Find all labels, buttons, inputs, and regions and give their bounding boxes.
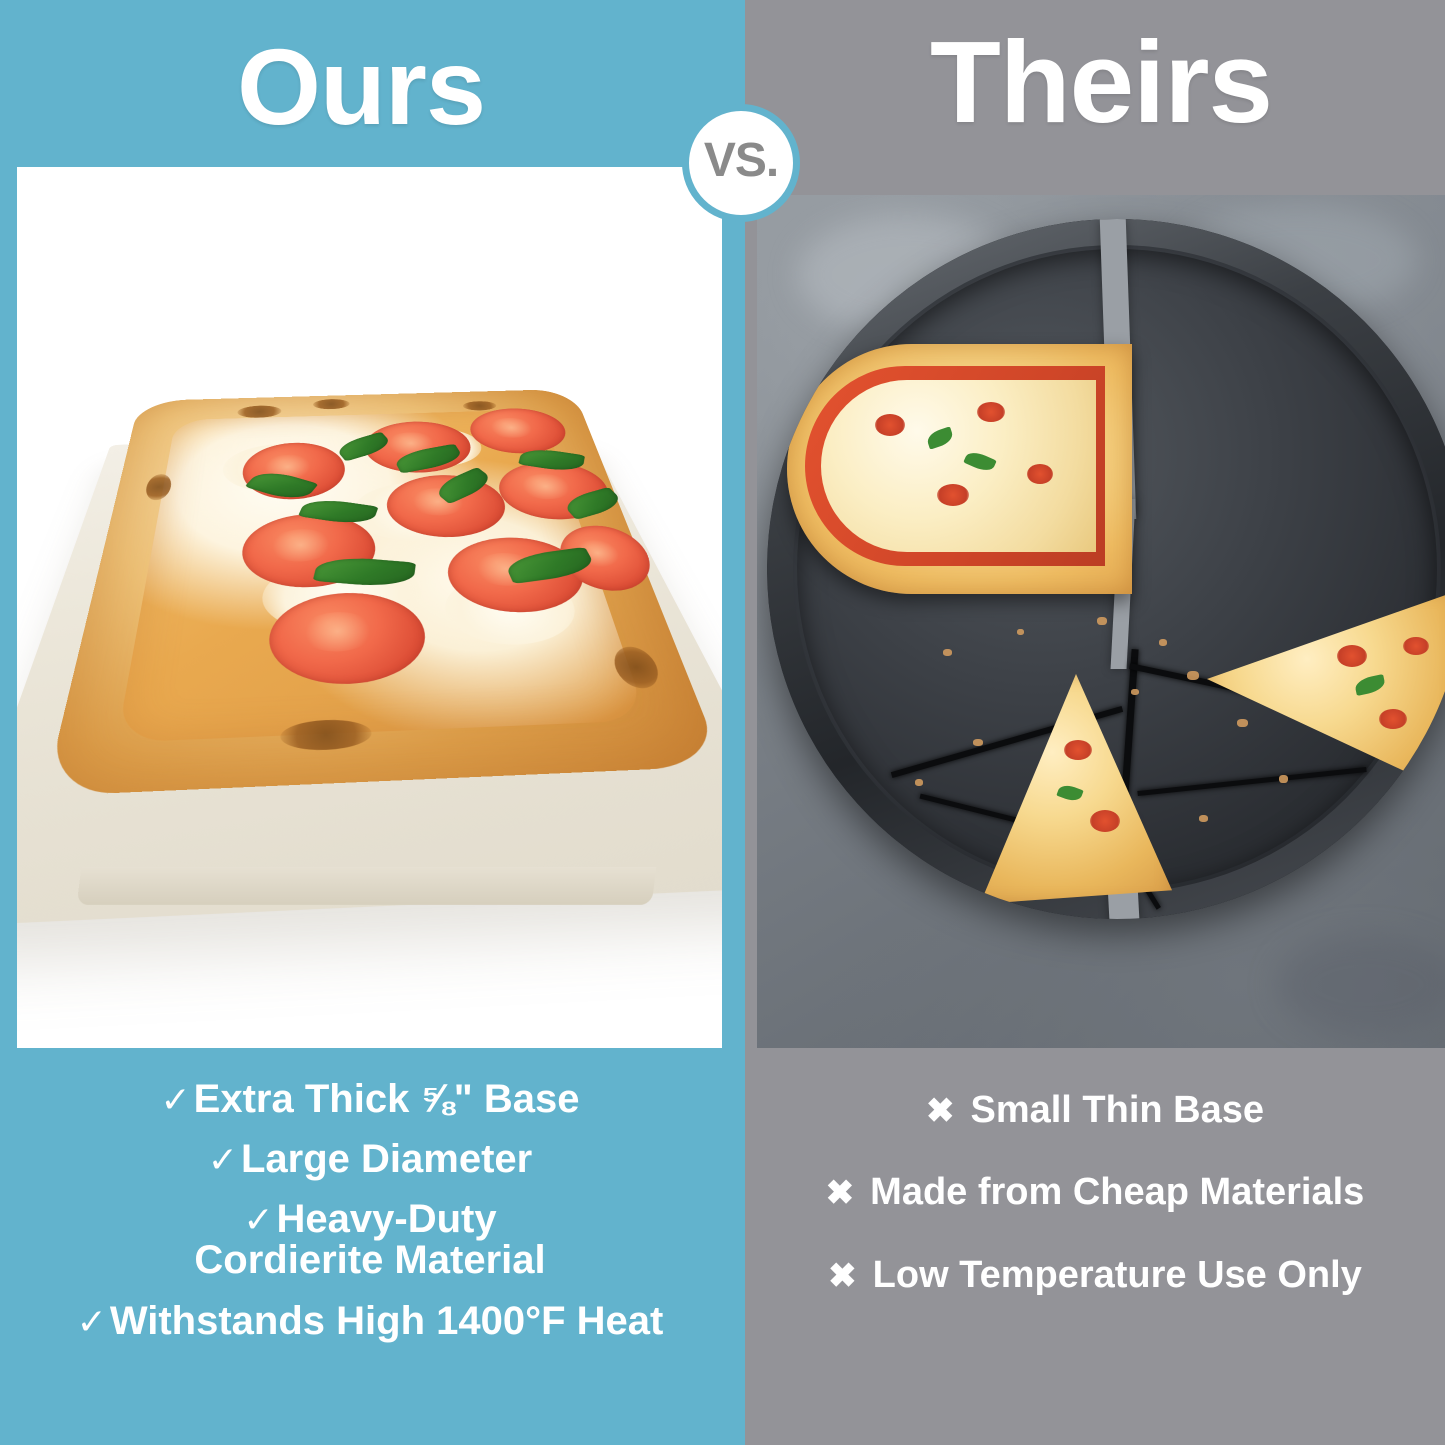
comparison-infographic: Ours Theirs VS. — [0, 0, 1445, 1445]
pepperoni-topping — [937, 484, 969, 506]
check-icon: ✓ — [77, 1303, 107, 1341]
cross-icon: ✖ — [826, 1175, 855, 1211]
pepperoni-topping — [1379, 709, 1407, 729]
theirs-drawback-list: ✖ Small Thin Base ✖ Made from Cheap Mate… — [745, 1090, 1445, 1337]
ours-heading: Ours — [0, 33, 722, 141]
pizza-crumb — [1237, 719, 1248, 727]
list-item-label: Small Thin Base — [970, 1090, 1264, 1130]
pizza-crumb — [915, 779, 923, 786]
pizza-crumb — [973, 739, 983, 746]
pepperoni-topping — [875, 414, 905, 436]
pizza-crumb — [1017, 629, 1024, 635]
pizza-crumb — [1187, 671, 1199, 680]
theirs-heading: Theirs — [757, 24, 1445, 140]
list-item-label: Extra Thick ⅝" Base — [194, 1078, 580, 1120]
pepperoni-topping — [1403, 637, 1429, 655]
check-icon: ✓ — [243, 1199, 273, 1240]
pizza-crumb — [1279, 775, 1288, 783]
vs-badge: VS. — [682, 104, 800, 222]
check-icon: ✓ — [161, 1081, 191, 1119]
ours-feature-list: ✓ Extra Thick ⅝" Base ✓ Large Diameter ✓… — [0, 1078, 740, 1360]
pizza-cheese-layer — [821, 380, 1096, 552]
list-item-label: Made from Cheap Materials — [870, 1172, 1364, 1212]
remaining-half-pizza — [787, 344, 1132, 594]
list-item: ✖ Low Temperature Use Only — [745, 1255, 1445, 1295]
margherita-pizza — [44, 389, 722, 796]
list-item: ✖ Made from Cheap Materials — [745, 1172, 1445, 1212]
list-item: ✖ Small Thin Base — [745, 1090, 1445, 1130]
ours-product-photo — [17, 167, 722, 1048]
cross-icon: ✖ — [828, 1258, 857, 1294]
theirs-product-photo — [757, 195, 1445, 1048]
crust-blister — [462, 401, 497, 411]
check-icon: ✓ — [208, 1141, 238, 1179]
list-item-label: Large Diameter — [241, 1138, 532, 1180]
slate-texture-blotch — [1277, 935, 1445, 1035]
pepperoni-topping — [1337, 645, 1367, 667]
crust-blister — [313, 399, 350, 410]
pizza-crumb — [1199, 815, 1208, 822]
pepperoni-topping — [977, 402, 1005, 422]
list-item-label: Low Temperature Use Only — [873, 1255, 1362, 1295]
pepperoni-topping — [1064, 740, 1092, 760]
pizza-crumb — [1097, 617, 1107, 625]
pizza-crumb — [1131, 689, 1139, 695]
list-item: ✓Heavy-Duty Cordierite Material — [0, 1199, 740, 1282]
list-item-label: Withstands High 1400°F Heat — [110, 1300, 664, 1342]
list-item-label-line-1: ✓Heavy-Duty — [243, 1199, 496, 1241]
pizza-stone-front-edge — [77, 867, 657, 905]
metal-pizza-pan — [767, 219, 1445, 919]
cross-icon: ✖ — [926, 1093, 955, 1129]
list-item: ✓ Withstands High 1400°F Heat — [0, 1300, 740, 1342]
pizza-crumb — [943, 649, 952, 656]
pepperoni-topping — [1027, 464, 1053, 484]
vs-badge-label: VS. — [704, 137, 778, 185]
pizza-crumb — [1159, 639, 1167, 646]
list-item-label-line-2: Cordierite Material — [194, 1240, 545, 1282]
pepperoni-topping — [1090, 810, 1120, 832]
list-item: ✓ Large Diameter — [0, 1138, 740, 1180]
list-item-label: Heavy-Duty — [277, 1197, 497, 1241]
list-item: ✓ Extra Thick ⅝" Base — [0, 1078, 740, 1120]
